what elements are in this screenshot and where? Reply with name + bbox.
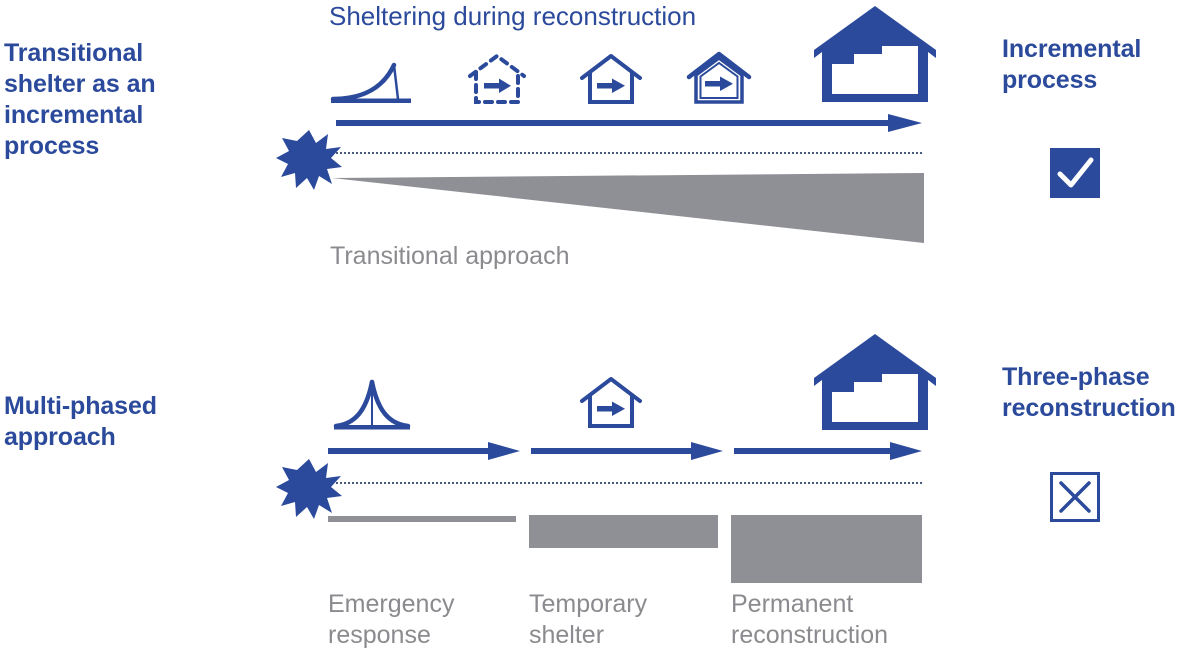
phase-arrow-permanent [734,442,922,460]
left-title-line: shelter as an [4,69,254,100]
permanent-house-icon [810,330,940,438]
phase-caption-line: reconstruction [731,620,961,651]
phase-caption-emergency: Emergency response [328,589,518,651]
left-title-line: process [4,131,254,162]
left-title-line: Transitional [4,38,254,69]
right-title-line: Three-phase [1002,362,1200,393]
verdict-cross-icon [1050,472,1100,522]
transitional-approach-caption: Transitional approach [330,241,570,272]
tent-icon [332,376,412,436]
phase-bar-permanent [731,515,922,583]
permanent-house-icon [810,2,940,110]
right-title-line: reconstruction [1002,393,1200,424]
phase-caption-line: response [328,620,518,651]
row-transitional-left-title: Transitional shelter as an incremental p… [4,38,254,162]
arrow-right-glyph [597,79,625,94]
left-title-line: approach [4,422,254,453]
row-multiphased-left-title: Multi-phased approach [4,391,254,453]
left-title-line: Multi-phased [4,391,254,422]
arrow-right-glyph [597,402,625,417]
row-transitional-icon-strip [326,0,946,115]
row-transitional-timeline-arrow [336,112,922,136]
phase-bar-temporary [529,515,718,548]
phase-bar-emergency [328,516,516,522]
phase-caption-line: Temporary [529,589,724,620]
phase-arrow-temporary [531,442,723,460]
row-transitional-dotted-baseline [336,152,922,157]
phase-caption-temporary: Temporary shelter [529,589,724,651]
transitional-approach-wedge [332,173,924,247]
phase-caption-line: Permanent [731,589,961,620]
tarpaulin-lean-to-icon [330,55,412,107]
right-title-line: Incremental [1002,34,1200,65]
verdict-check-icon [1050,148,1100,198]
phase-arrow-emergency [328,442,520,460]
row-multiphased-icon-strip [326,330,946,440]
house-arrow-icon [579,52,643,108]
phase-caption-line: shelter [529,620,724,651]
row-multiphased-dotted-baseline [336,482,922,487]
left-title-line: incremental [4,100,254,131]
arrow-right-glyph [705,77,733,92]
row-transitional-right-title: Incremental process [1002,34,1200,96]
row-multiphased-timeline-arrows [328,440,922,464]
right-title-line: process [1002,65,1200,96]
phase-caption-line: Emergency [328,589,518,620]
house-arrow-icon [579,374,643,432]
dashed-house-arrow-icon [466,52,528,108]
disaster-event-starburst-icon [276,458,342,520]
phase-caption-permanent: Permanent reconstruction [731,589,961,651]
arrow-right-glyph [484,79,511,94]
row-multiphased-right-title: Three-phase reconstruction [1002,362,1200,424]
double-wall-house-arrow-icon [687,50,751,108]
